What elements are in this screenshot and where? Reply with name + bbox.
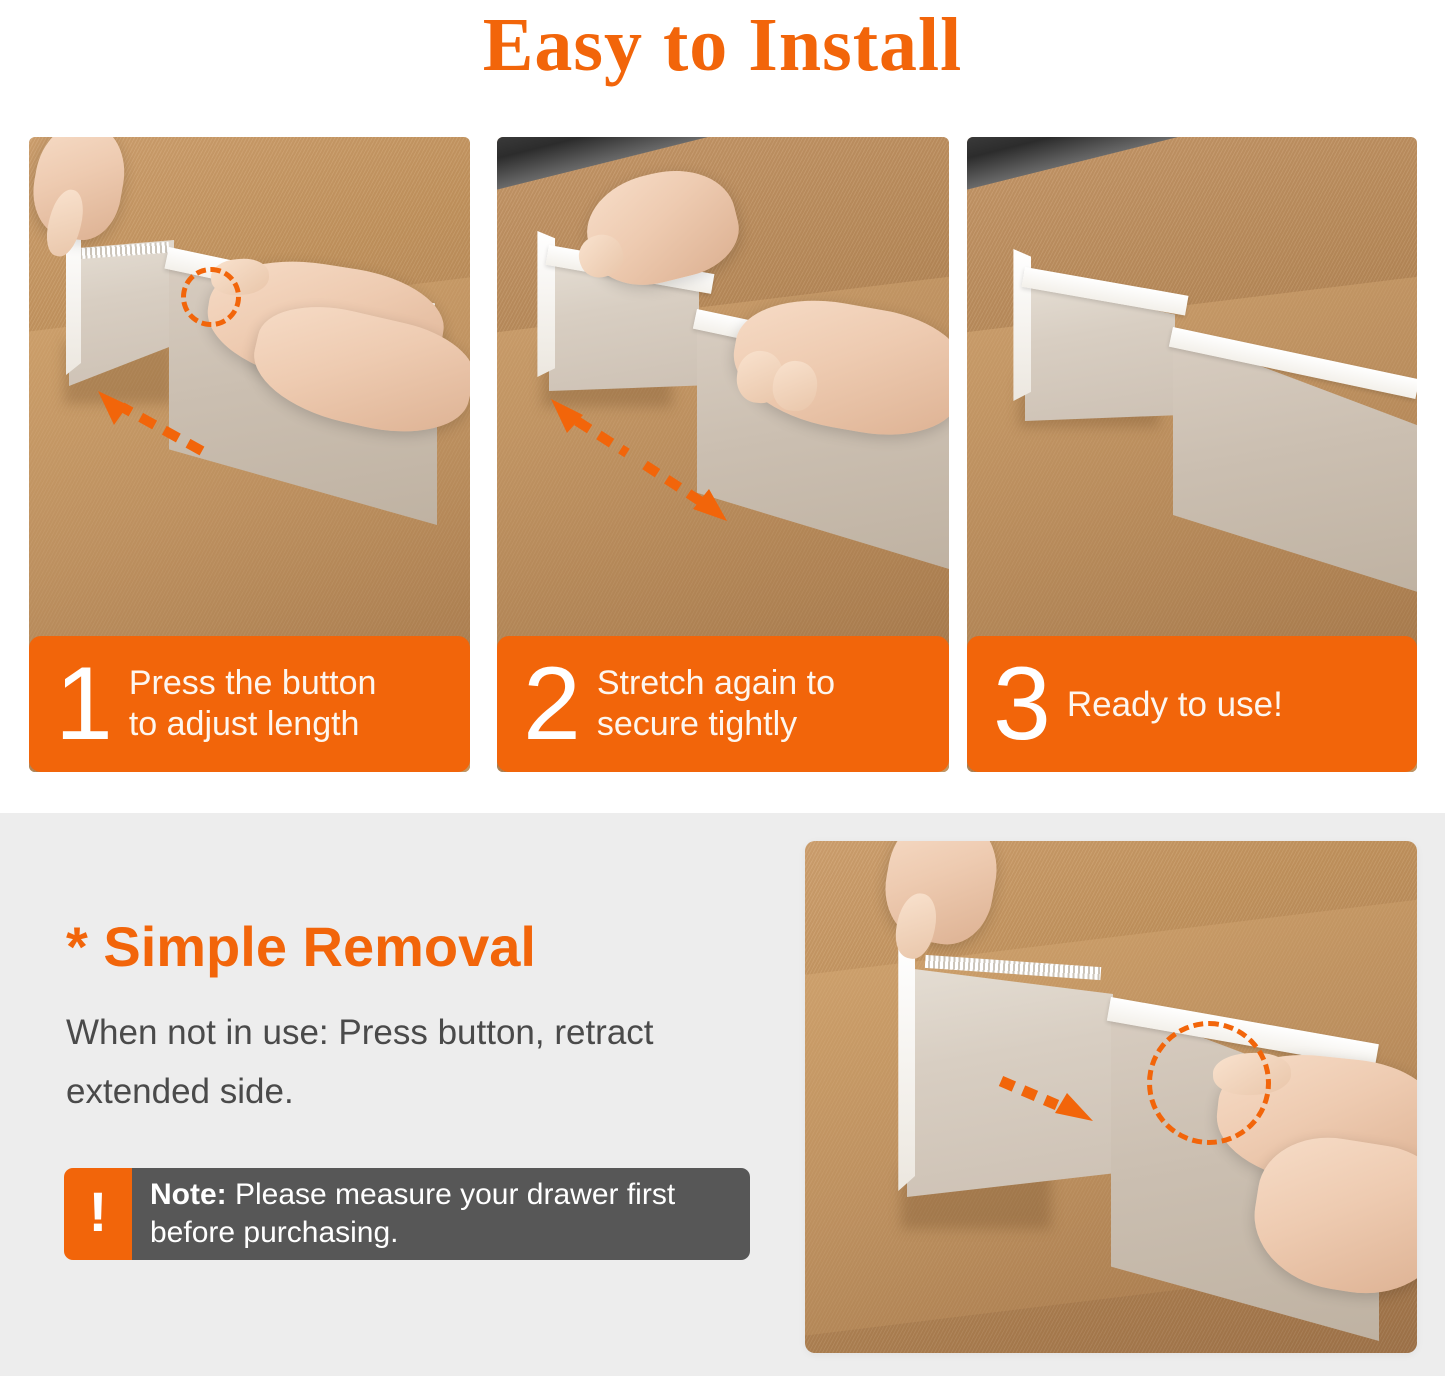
- step-3-line1: Ready to use!: [1067, 684, 1283, 725]
- step-1-text: Press the button to adjust length: [129, 663, 377, 745]
- step-card-1: 1 Press the button to adjust length: [29, 137, 470, 772]
- drawer-rail: [967, 137, 1229, 192]
- removal-photo-bg: [805, 841, 1417, 1353]
- step-2-line2: secure tightly: [597, 704, 835, 745]
- note-box: ! Note: Please measure your drawer first…: [64, 1168, 750, 1260]
- note-label: Note:: [150, 1178, 227, 1211]
- dashed-circle-highlight-icon: [181, 267, 241, 327]
- step-3-number: 3: [993, 656, 1051, 752]
- step-2-line1: Stretch again to: [597, 663, 835, 704]
- step-1-caption: 1 Press the button to adjust length: [29, 636, 470, 772]
- simple-removal-section: * Simple Removal When not in use: Press …: [0, 813, 1445, 1376]
- exclamation-icon: !: [64, 1168, 132, 1260]
- dashed-circle-highlight-icon: [1147, 1021, 1271, 1145]
- step-2-number: 2: [523, 656, 581, 752]
- step-3-text: Ready to use!: [1067, 684, 1283, 725]
- page-title: Easy to Install: [0, 2, 1445, 88]
- step-2-caption: 2 Stretch again to secure tightly: [497, 636, 949, 772]
- dashed-arrow-bidirectional-icon: [535, 385, 745, 535]
- step-1-number: 1: [55, 656, 113, 752]
- step-2-text: Stretch again to secure tightly: [597, 663, 835, 745]
- dashed-arrow-left-icon: [84, 385, 214, 461]
- step-1-line1: Press the button: [129, 663, 377, 704]
- step-3-caption: 3 Ready to use!: [967, 636, 1417, 772]
- removal-photo: [805, 841, 1417, 1353]
- infographic-page: Easy to Install: [0, 0, 1445, 1376]
- step-card-3: 3 Ready to use!: [967, 137, 1417, 772]
- hand-upper-left: [29, 137, 132, 246]
- solid-arrow-right-icon: [995, 1071, 1105, 1131]
- step-card-2: 2 Stretch again to secure tightly: [497, 137, 949, 772]
- removal-heading: * Simple Removal: [66, 917, 536, 977]
- install-steps-row: 1 Press the button to adjust length: [29, 137, 1417, 772]
- note-body: Note: Please measure your drawer first b…: [132, 1168, 750, 1260]
- step-1-line2: to adjust length: [129, 704, 377, 745]
- note-text: Please measure your drawer first before …: [150, 1178, 675, 1249]
- removal-body-text: When not in use: Press button, retract e…: [66, 1003, 796, 1121]
